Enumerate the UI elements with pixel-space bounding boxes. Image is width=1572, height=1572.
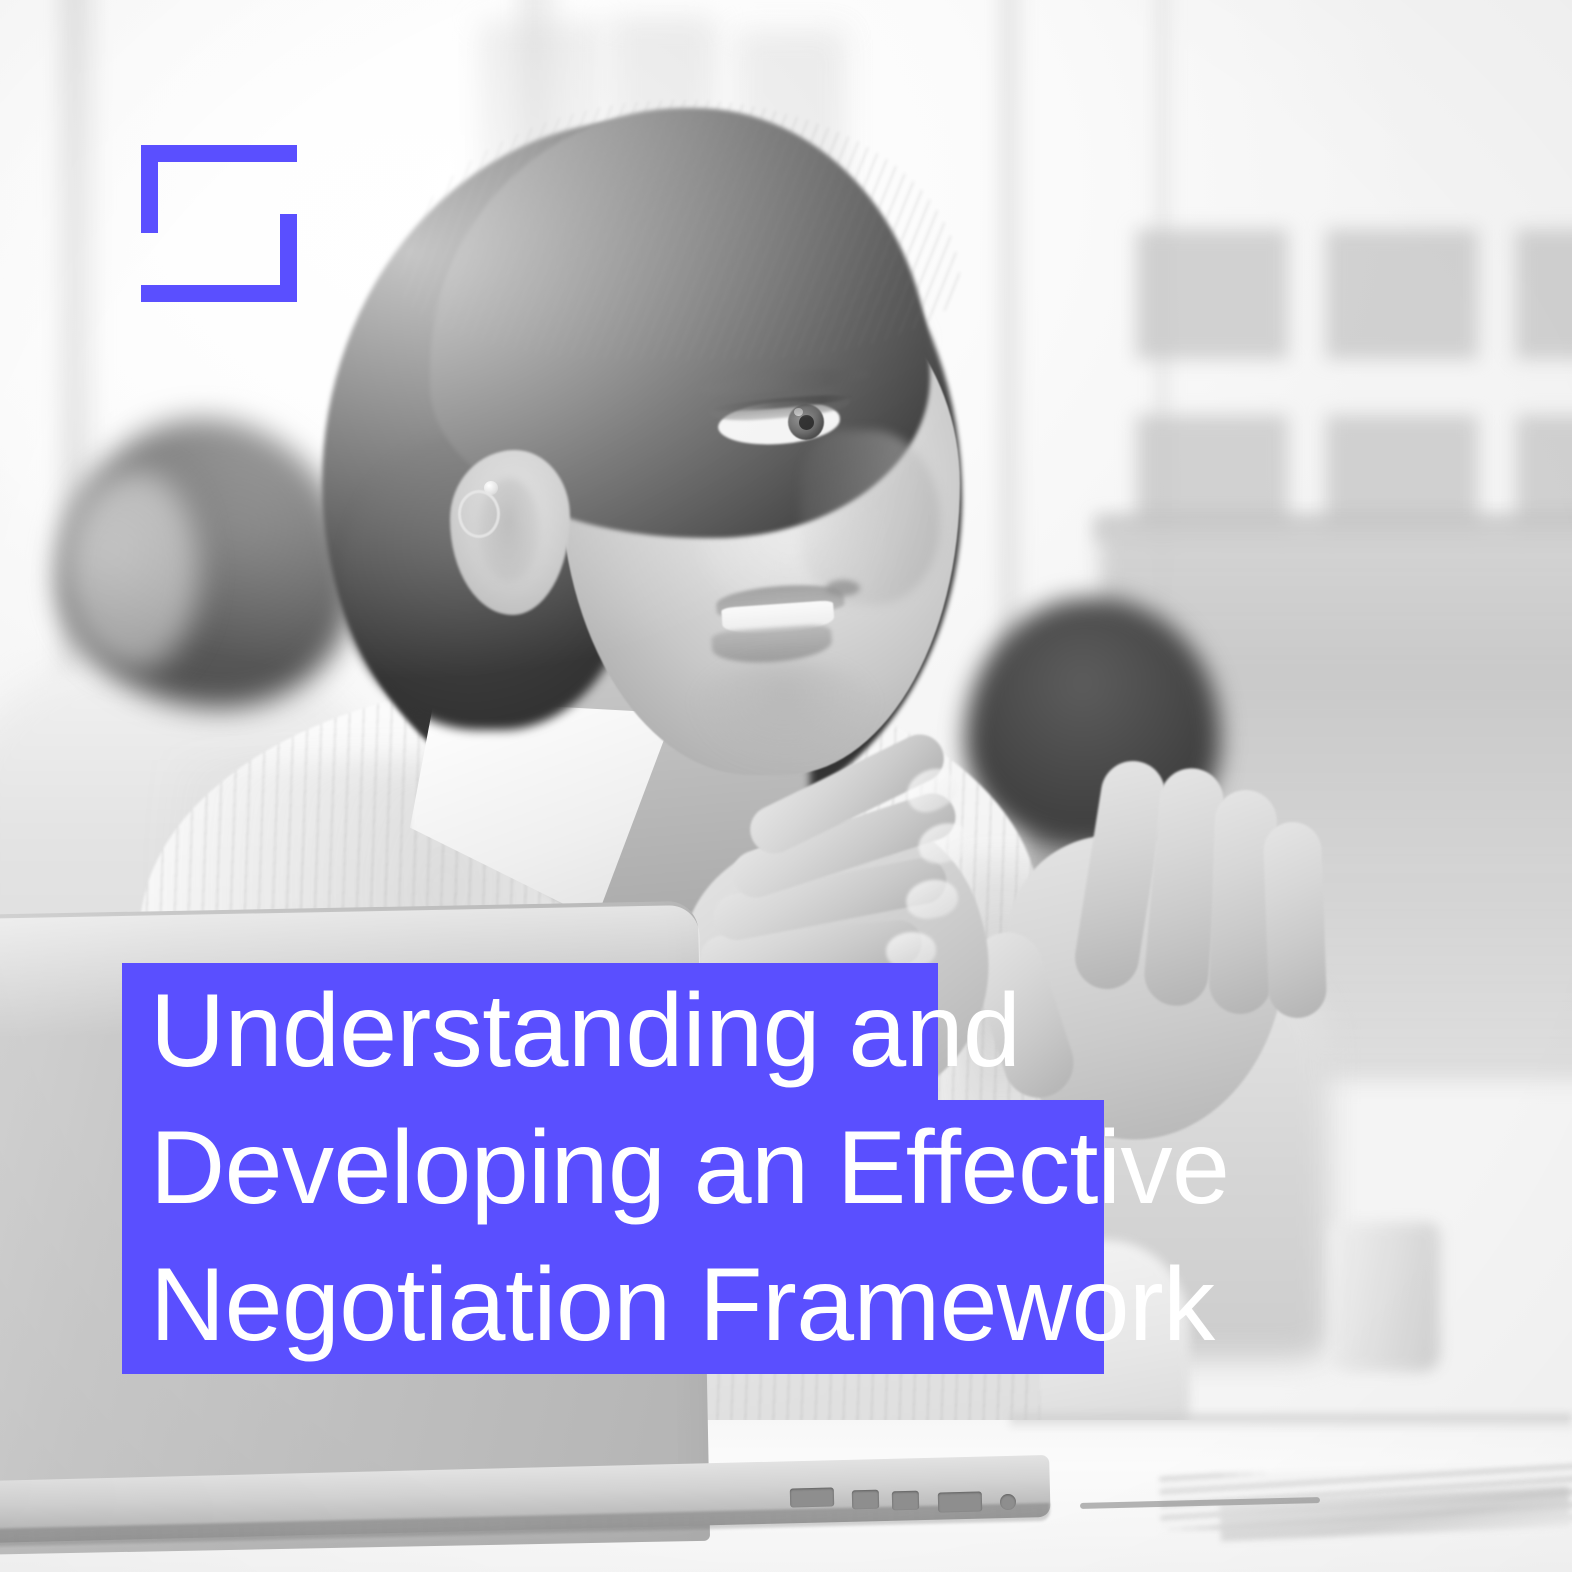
logo-bar-left [141,145,158,233]
window-pane [1516,229,1572,359]
woman-nose [800,430,940,605]
laptop-port [938,1491,982,1512]
earring-hoop [458,490,500,538]
page-title: Understanding and Developing an Effectiv… [122,963,1222,1374]
logo-bar-top [141,145,297,162]
laptop-port [892,1491,919,1511]
right-hand-finger [1263,821,1328,1019]
title-line-1: Understanding and [122,963,1222,1100]
desk-cup [1330,1222,1440,1372]
office-window-panels [1130,215,1572,560]
woman-pupil [799,415,814,430]
desk-edge [1010,1414,1572,1430]
social-card: Understanding and Developing an Effectiv… [0,0,1572,1572]
logo-bar-bottom [141,285,297,302]
window-pane [1326,229,1478,359]
chin-shading [690,660,880,770]
window-pane [1136,229,1288,359]
title-line-2: Developing an Effective [122,1100,1222,1237]
laptop-port [852,1490,879,1510]
brand-logo-icon[interactable] [141,145,297,302]
laptop-port [790,1487,834,1507]
title-line-3: Negotiation Framework [122,1237,1222,1374]
